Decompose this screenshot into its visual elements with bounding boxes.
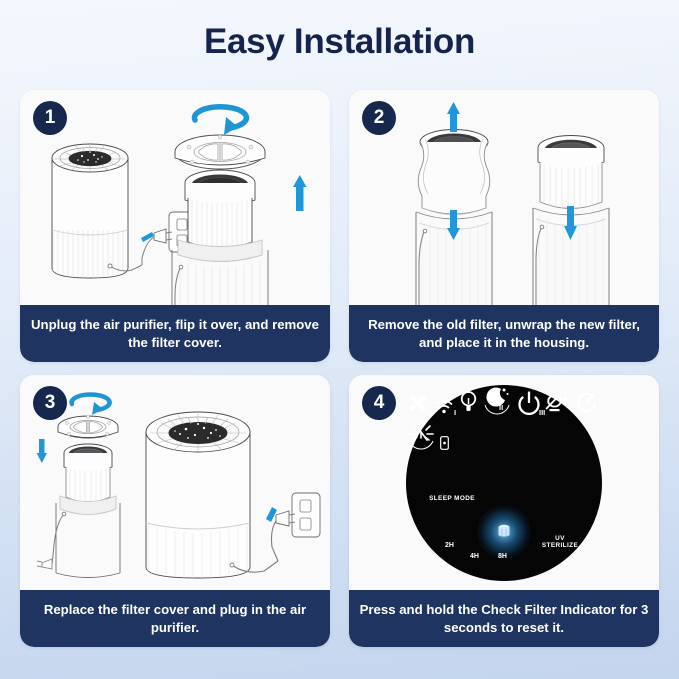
timer-label-2h: 2H xyxy=(445,542,454,549)
check-filter-indicator-glow[interactable] xyxy=(477,505,531,559)
swap-filter-illustration xyxy=(349,90,659,305)
step-2-illustration xyxy=(349,90,659,305)
step-card-1: 1 Unplug the air purifier, flip it over,… xyxy=(20,90,330,362)
speed-mark-1: I xyxy=(454,408,456,417)
step-caption: Replace the filter cover and plug in the… xyxy=(20,590,330,647)
timer-label-4h: 4H xyxy=(470,553,479,560)
step-1-illustration xyxy=(20,90,330,305)
unplug-and-remove-cover-illustration xyxy=(20,90,330,305)
speed-mark-3: III xyxy=(539,408,545,417)
timer-icon[interactable] xyxy=(576,392,599,415)
step-card-4: I II III xyxy=(349,375,659,647)
step-number-badge: 2 xyxy=(362,101,396,135)
speed-mark-2: II xyxy=(499,403,503,412)
control-panel[interactable]: I II III xyxy=(406,385,602,581)
rotate-cover-arrow-icon-3 xyxy=(72,394,110,415)
child-lock-icon[interactable] xyxy=(440,436,449,450)
timer-label-8h: 8H xyxy=(498,553,507,560)
light-bulb-icon[interactable] xyxy=(459,390,478,415)
steps-grid: 1 Unplug the air purifier, flip it over,… xyxy=(20,90,659,655)
step-caption: Remove the old filter, unwrap the new fi… xyxy=(349,305,659,362)
sleep-mode-icon[interactable] xyxy=(482,385,512,415)
lift-up-arrow-icon xyxy=(293,175,307,211)
replace-cover-and-plug-in-illustration xyxy=(20,375,330,590)
power-icon[interactable] xyxy=(517,391,541,415)
aroma-icon[interactable] xyxy=(545,393,571,415)
step-card-2: 2 Remove the old filter, unwrap the new … xyxy=(349,90,659,362)
step-4-illustration: I II III xyxy=(349,375,659,590)
step-caption: Press and hold the Check Filter Indicato… xyxy=(349,590,659,647)
rotate-cover-arrow-icon xyxy=(194,107,246,135)
uv-sterilize-label: UV STERILIZE xyxy=(540,535,580,549)
unplug-arrow-icon xyxy=(141,232,154,242)
wifi-icon[interactable] xyxy=(434,398,454,415)
poster: Easy Installation xyxy=(0,0,679,679)
page-title: Easy Installation xyxy=(0,22,679,62)
insert-down-arrow-right-icon xyxy=(564,206,577,240)
step-number-badge: 4 xyxy=(362,386,396,420)
plug-in-arrow-icon xyxy=(266,507,277,522)
fan-speed-icon[interactable] xyxy=(406,391,430,415)
step-caption: Unplug the air purifier, flip it over, a… xyxy=(20,305,330,362)
check-filter-indicator-icon[interactable] xyxy=(495,523,513,541)
sleep-mode-label: SLEEP MODE xyxy=(428,495,476,502)
uv-sterilize-icon[interactable] xyxy=(406,420,436,450)
step-card-3: 3 Replace the filter cover and plug in t… xyxy=(20,375,330,647)
press-down-arrow-icon xyxy=(37,439,48,463)
remove-filter-up-arrow-icon xyxy=(447,102,460,132)
step-number-badge: 3 xyxy=(33,386,67,420)
step-number-badge: 1 xyxy=(33,101,67,135)
step-3-illustration xyxy=(20,375,330,590)
